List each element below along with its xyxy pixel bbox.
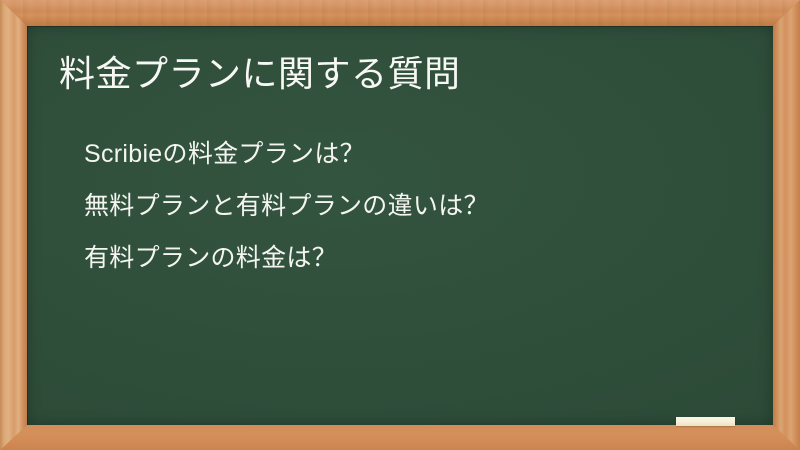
question-list: Scribieの料金プランは？ 無料プランと有料プランの違いは？ 有料プランの料… xyxy=(84,128,489,284)
frame-rail-left xyxy=(0,0,27,450)
frame-rail-bottom xyxy=(0,425,800,450)
list-item: 無料プランと有料プランの違いは？ xyxy=(84,180,489,232)
list-item: Scribieの料金プランは？ xyxy=(84,128,489,180)
frame-rail-right xyxy=(773,0,800,450)
frame-rail-top xyxy=(0,0,800,26)
chalk-stick xyxy=(676,417,735,426)
list-item: 有料プランの料金は？ xyxy=(84,232,489,284)
chalkboard-surface: 料金プランに関する質問 Scribieの料金プランは？ 無料プランと有料プランの… xyxy=(27,26,773,425)
page-title: 料金プランに関する質問 xyxy=(59,52,461,96)
chalkboard-slide: 料金プランに関する質問 Scribieの料金プランは？ 無料プランと有料プランの… xyxy=(0,0,800,450)
